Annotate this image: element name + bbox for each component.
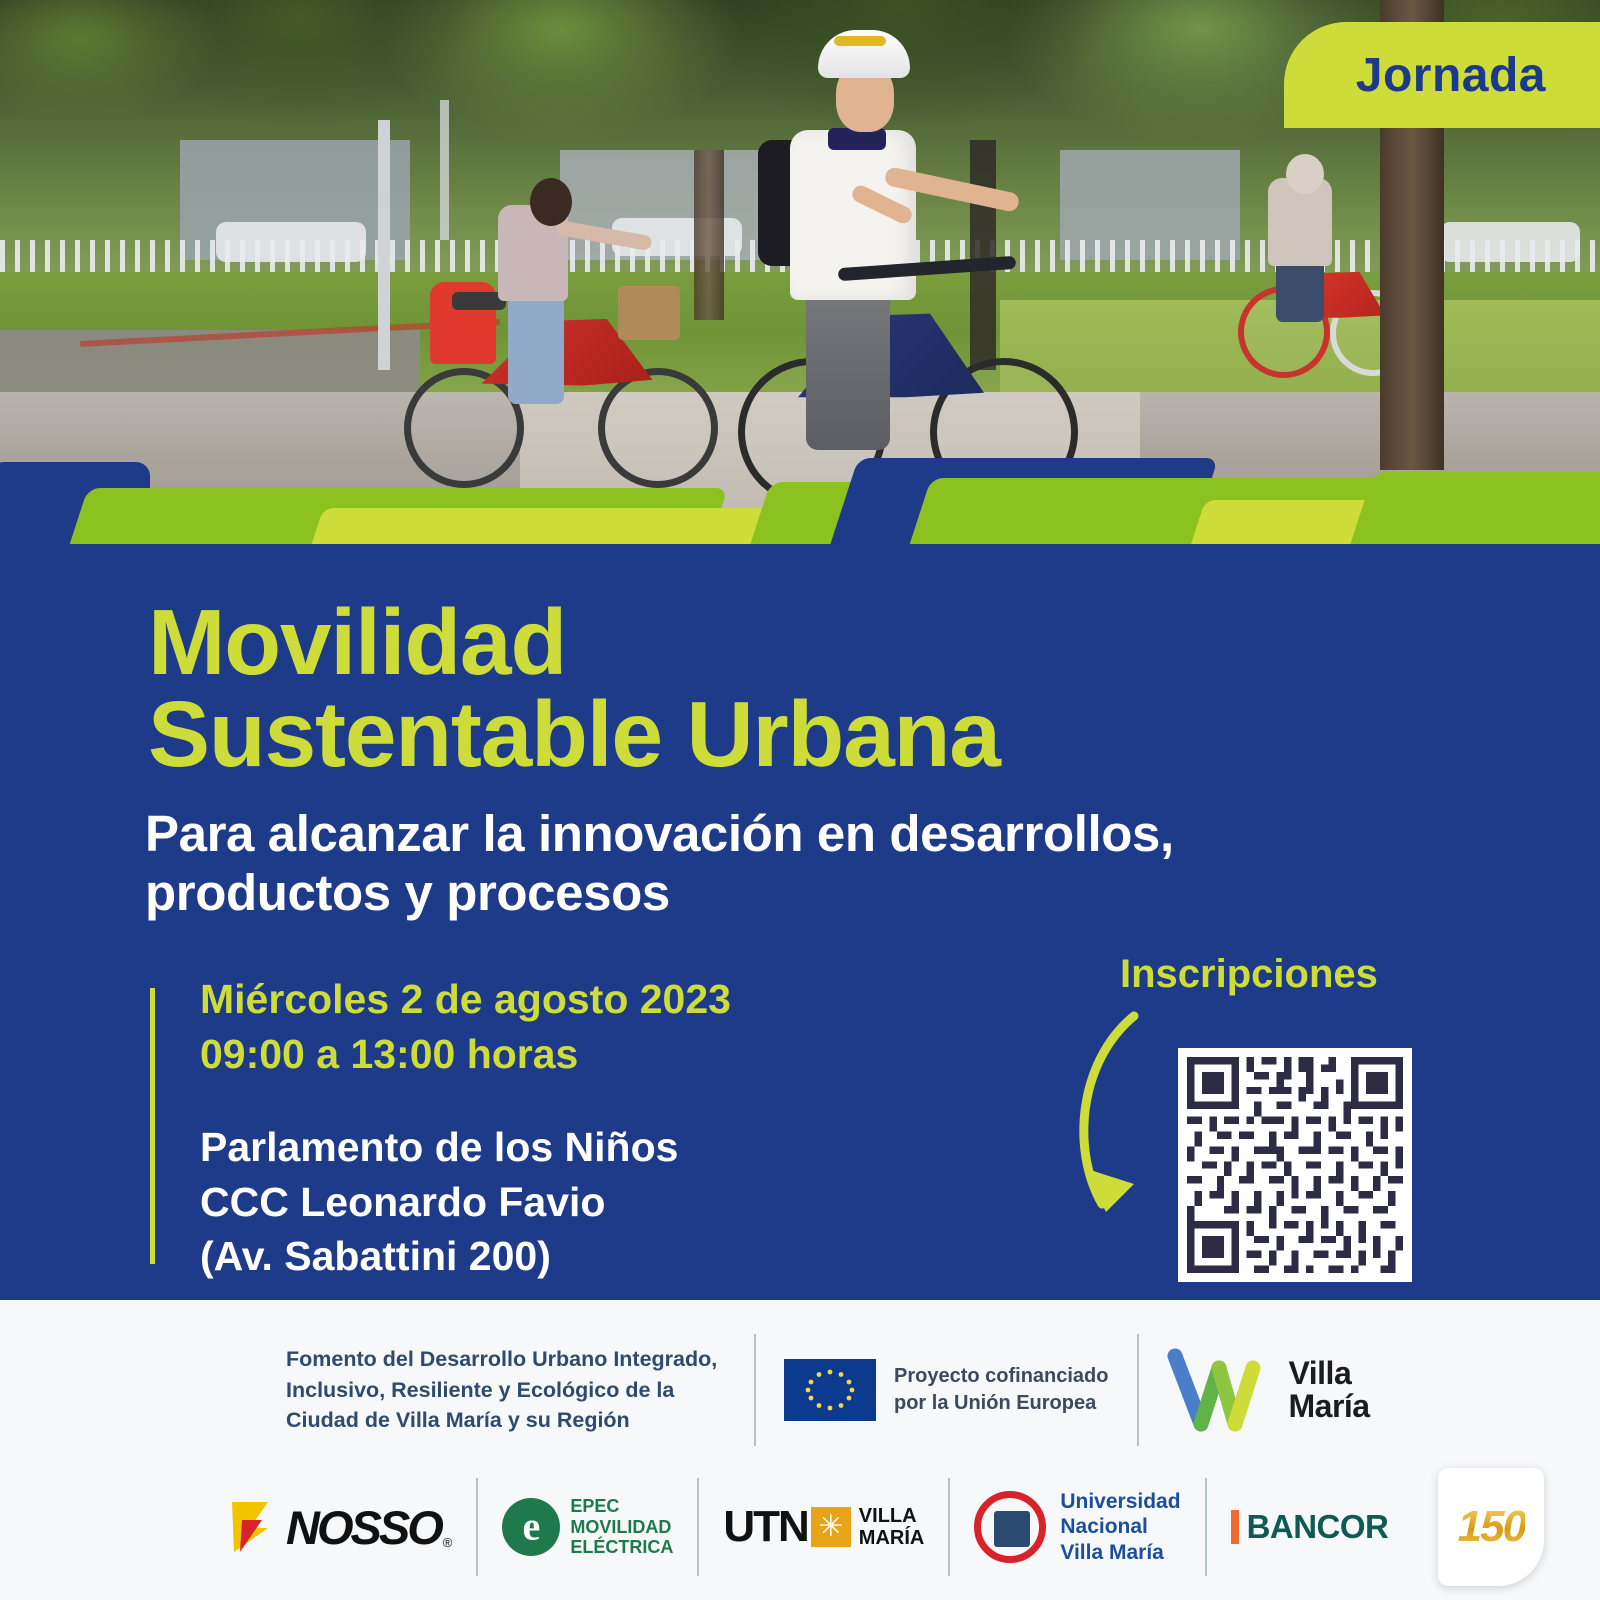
villa-maria-wordmark: Villa María — [1289, 1357, 1370, 1422]
event-poster: Jornada Movilidad Sustentable Urbana Par… — [0, 0, 1600, 1600]
sponsor-utn: UTN ✳ VILLA MARÍA — [723, 1502, 924, 1552]
epec-e-icon: e — [502, 1498, 560, 1556]
title-line-1: Movilidad — [148, 590, 566, 694]
curved-arrow-icon — [1062, 1008, 1192, 1238]
sponsor-line-2: Nacional — [1060, 1514, 1180, 1540]
utn-star-icon: ✳ — [811, 1507, 851, 1547]
venue-building: CCC Leonardo Favio — [200, 1175, 678, 1230]
program-description: Fomento del Desarrollo Urbano Integrado,… — [286, 1344, 726, 1436]
tree-trunk-3 — [970, 140, 996, 370]
qr-code-icon — [1187, 1057, 1403, 1273]
eu-funding-text: Proyecto cofinanciado por la Unión Europ… — [894, 1363, 1109, 1417]
unvm-square — [994, 1511, 1030, 1547]
sponsor-name: BANCOR — [1247, 1508, 1389, 1546]
eu-text-line-1: Proyecto cofinanciado — [894, 1363, 1109, 1390]
villa-maria-vm-icon — [1167, 1348, 1279, 1432]
light-pole-1 — [378, 120, 390, 370]
sponsor-line-2: VILLA — [859, 1505, 925, 1527]
event-venue: Parlamento de los Niños CCC Leonardo Fav… — [200, 1120, 678, 1284]
light-pole-2 — [440, 100, 449, 240]
sponsor-line-3: MARÍA — [859, 1527, 925, 1549]
sponsor-unvm: Universidad Nacional Villa María — [974, 1489, 1180, 1566]
footer-row-sponsors: NOSSO ® e EPEC MOVILIDAD ELÉCTRICA UTN ✳ — [228, 1468, 1544, 1586]
venue-address: (Av. Sabattini 200) — [200, 1229, 678, 1284]
registration-label: Inscripciones — [1120, 952, 1378, 997]
sponsor-name: Universidad — [1060, 1489, 1180, 1515]
rider-head — [530, 178, 572, 226]
page-subtitle: Para alcanzar la innovación en desarroll… — [145, 804, 1405, 922]
divider — [1205, 1478, 1207, 1576]
divider — [1137, 1334, 1139, 1446]
star-glyph: ✳ — [818, 1512, 843, 1542]
title-line-2: Sustentable Urbana — [148, 688, 1000, 780]
sponsor-name: UTN — [723, 1502, 807, 1552]
tree-trunk-2 — [694, 150, 724, 320]
page-title: Movilidad Sustentable Urbana — [148, 596, 1000, 780]
sponsor-line-3: Villa María — [1060, 1540, 1180, 1566]
event-time: 09:00 a 13:00 horas — [200, 1027, 731, 1082]
sponsor-name: 150 — [1458, 1502, 1525, 1552]
sponsor-bancor: BANCOR — [1231, 1508, 1389, 1546]
sponsor-line-3: ELÉCTRICA — [570, 1537, 673, 1558]
venue-name: Parlamento de los Niños — [200, 1120, 678, 1175]
eu-stars — [784, 1359, 876, 1421]
sponsor-name: NOSSO — [286, 1500, 441, 1555]
accent-bar — [150, 988, 155, 1264]
sponsor-150-anniversary: 150 — [1438, 1468, 1544, 1586]
jornada-badge-label: Jornada — [1356, 48, 1546, 103]
jornada-badge: Jornada — [1284, 22, 1600, 128]
sponsor-name: EPEC — [570, 1496, 673, 1517]
city-name-line-2: María — [1289, 1390, 1370, 1423]
event-datetime: Miércoles 2 de agosto 2023 09:00 a 13:00… — [200, 972, 731, 1081]
registration-qr-code[interactable] — [1178, 1048, 1412, 1282]
divider — [948, 1478, 950, 1576]
rider-legs — [806, 290, 890, 450]
registered-mark: ® — [443, 1535, 453, 1550]
rider-legs — [508, 296, 564, 404]
city-name-line-1: Villa — [1289, 1357, 1370, 1390]
nosso-arrow-icon — [228, 1498, 284, 1556]
utn-campus: VILLA MARÍA — [859, 1505, 925, 1549]
epec-wordmark: EPEC MOVILIDAD ELÉCTRICA — [570, 1496, 673, 1558]
european-union-flag-icon — [784, 1359, 876, 1421]
epec-e-glyph: e — [522, 1503, 540, 1550]
sponsor-line-2: MOVILIDAD — [570, 1517, 673, 1538]
divider — [754, 1334, 756, 1446]
eu-funding-logo: Proyecto cofinanciado por la Unión Europ… — [784, 1359, 1109, 1421]
event-date: Miércoles 2 de agosto 2023 — [200, 972, 731, 1027]
bike-basket — [618, 286, 680, 340]
divider — [697, 1478, 699, 1576]
main-content-panel: Movilidad Sustentable Urbana Para alcanz… — [0, 548, 1600, 1300]
footer-row-primary: Fomento del Desarrollo Urbano Integrado,… — [286, 1334, 1370, 1446]
bancor-bar-icon — [1231, 1510, 1239, 1544]
sponsor-epec: e EPEC MOVILIDAD ELÉCTRICA — [502, 1496, 673, 1558]
sponsor-footer: Fomento del Desarrollo Urbano Integrado,… — [0, 1300, 1600, 1600]
unvm-wordmark: Universidad Nacional Villa María — [1060, 1489, 1180, 1566]
divider — [476, 1478, 478, 1576]
eu-text-line-2: por la Unión Europea — [894, 1390, 1109, 1417]
rider-head — [1286, 154, 1324, 194]
rider-legs — [1276, 258, 1324, 322]
villa-maria-logo: Villa María — [1167, 1348, 1370, 1432]
unvm-circle-icon — [974, 1491, 1046, 1563]
sponsor-nosso: NOSSO ® — [228, 1498, 452, 1556]
